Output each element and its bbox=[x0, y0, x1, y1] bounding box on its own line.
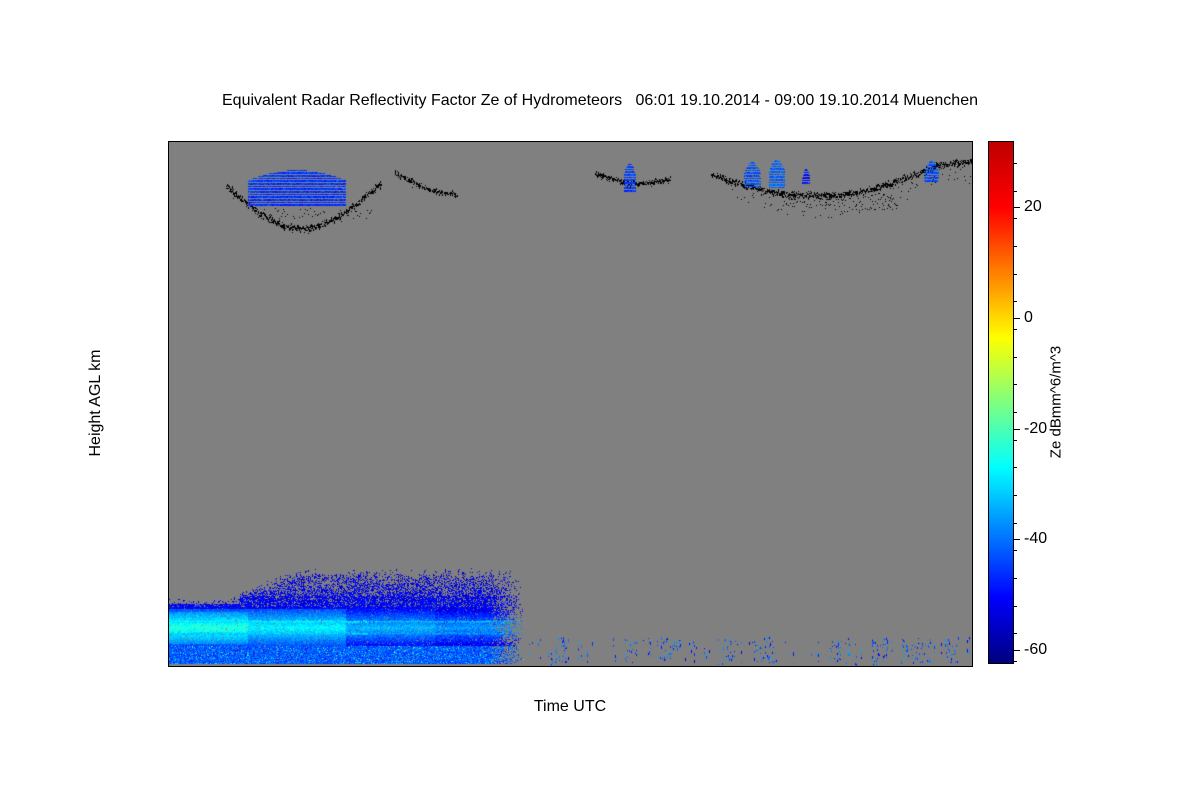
x-tick-minor bbox=[212, 666, 213, 667]
colorbar-tick-minor bbox=[1014, 578, 1017, 579]
colorbar-tick-minor bbox=[1014, 274, 1017, 275]
y-tick-minor-right bbox=[972, 425, 973, 426]
x-tick-major bbox=[835, 666, 836, 667]
colorbar[interactable]: 200-20-40-60 bbox=[988, 141, 1012, 662]
y-tick-minor bbox=[168, 288, 169, 289]
colorbar-tick-minor bbox=[1014, 606, 1017, 607]
y-tick-minor-right bbox=[972, 242, 973, 243]
colorbar-tick-minor bbox=[1014, 329, 1017, 330]
y-tick-major-right bbox=[972, 586, 973, 587]
x-tick-minor-top bbox=[924, 141, 925, 142]
colorbar-tick-minor bbox=[1014, 301, 1017, 302]
y-tick-minor-right bbox=[972, 609, 973, 610]
y-tick-major bbox=[168, 403, 169, 404]
y-tick-major-right bbox=[972, 311, 973, 312]
x-tick-major-top bbox=[969, 141, 970, 142]
y-tick-minor bbox=[168, 609, 169, 610]
y-tick-major bbox=[168, 219, 169, 220]
y-tick-minor bbox=[168, 380, 169, 381]
x-tick-minor-top bbox=[880, 141, 881, 142]
colorbar-tick-label: 20 bbox=[1024, 198, 1042, 216]
y-tick-minor-right bbox=[972, 288, 973, 289]
y-tick-minor bbox=[168, 563, 169, 564]
y-tick-minor-right bbox=[972, 563, 973, 564]
x-tick-minor-top bbox=[746, 141, 747, 142]
x-tick-minor bbox=[346, 666, 347, 667]
y-tick-minor bbox=[168, 150, 169, 151]
y-tick-minor-right bbox=[972, 380, 973, 381]
y-tick-minor-right bbox=[972, 540, 973, 541]
x-tick-minor-top bbox=[212, 141, 213, 142]
x-tick-major bbox=[435, 666, 436, 667]
colorbar-tick bbox=[1014, 207, 1020, 208]
x-tick-minor bbox=[613, 666, 614, 667]
y-tick-minor-right bbox=[972, 517, 973, 518]
y-tick-minor bbox=[168, 517, 169, 518]
colorbar-tick-minor bbox=[1014, 191, 1017, 192]
y-tick-minor bbox=[168, 357, 169, 358]
colorbar-tick bbox=[1014, 539, 1020, 540]
colorbar-tick bbox=[1014, 650, 1020, 651]
y-tick-major-right bbox=[972, 403, 973, 404]
y-tick-minor bbox=[168, 540, 169, 541]
y-tick-minor-right bbox=[972, 334, 973, 335]
reflectivity-heatmap-canvas bbox=[169, 142, 972, 666]
y-tick-minor bbox=[168, 242, 169, 243]
colorbar-tick-label: -20 bbox=[1024, 420, 1047, 438]
y-tick-minor-right bbox=[972, 448, 973, 449]
colorbar-tick-label: -60 bbox=[1024, 641, 1047, 659]
y-tick-minor-right bbox=[972, 471, 973, 472]
y-tick-minor bbox=[168, 334, 169, 335]
colorbar-tick-minor bbox=[1014, 246, 1017, 247]
y-tick-major bbox=[168, 586, 169, 587]
colorbar-tick-minor bbox=[1014, 163, 1017, 164]
x-tick-minor-top bbox=[256, 141, 257, 142]
x-tick-major-top bbox=[435, 141, 436, 142]
chart-title: Equivalent Radar Reflectivity Factor Ze … bbox=[0, 92, 1200, 110]
x-tick-minor bbox=[746, 666, 747, 667]
y-tick-minor bbox=[168, 471, 169, 472]
colorbar-tick bbox=[1014, 429, 1020, 430]
colorbar-tick-minor bbox=[1014, 440, 1017, 441]
y-tick-minor-right bbox=[972, 265, 973, 266]
x-tick-minor-top bbox=[479, 141, 480, 142]
y-tick-minor-right bbox=[972, 150, 973, 151]
y-tick-minor-right bbox=[972, 632, 973, 633]
x-tick-major bbox=[568, 666, 569, 667]
x-tick-minor-top bbox=[791, 141, 792, 142]
y-tick-minor bbox=[168, 425, 169, 426]
colorbar-tick-label: 0 bbox=[1024, 309, 1033, 327]
colorbar-tick-minor bbox=[1014, 633, 1017, 634]
y-tick-major bbox=[168, 494, 169, 495]
x-tick-major-top bbox=[568, 141, 569, 142]
y-tick-minor bbox=[168, 448, 169, 449]
colorbar-tick-minor bbox=[1014, 661, 1017, 662]
colorbar-tick-minor bbox=[1014, 384, 1017, 385]
colorbar-tick-minor bbox=[1014, 357, 1017, 358]
y-tick-minor-right bbox=[972, 196, 973, 197]
y-tick-minor-right bbox=[972, 357, 973, 358]
x-tick-major-top bbox=[835, 141, 836, 142]
colorbar-tick bbox=[1014, 318, 1020, 319]
colorbar-tick-minor bbox=[1014, 495, 1017, 496]
x-tick-minor bbox=[924, 666, 925, 667]
colorbar-tick-minor bbox=[1014, 218, 1017, 219]
plot-area[interactable]: 24681006:3007:0007:3008:0008:3009:00 bbox=[168, 141, 973, 667]
x-tick-minor bbox=[524, 666, 525, 667]
x-tick-major-top bbox=[301, 141, 302, 142]
colorbar-tick-minor bbox=[1014, 550, 1017, 551]
x-tick-major bbox=[969, 666, 970, 667]
y-tick-minor-right bbox=[972, 655, 973, 656]
x-tick-minor bbox=[657, 666, 658, 667]
y-tick-minor bbox=[168, 265, 169, 266]
colorbar-tick-label: -40 bbox=[1024, 530, 1047, 548]
x-tick-minor-top bbox=[346, 141, 347, 142]
x-tick-minor-top bbox=[657, 141, 658, 142]
colorbar-tick-minor bbox=[1014, 412, 1017, 413]
colorbar-axis-label: Ze dBmm^6/m^3 bbox=[1048, 346, 1065, 458]
x-tick-minor bbox=[256, 666, 257, 667]
x-tick-minor bbox=[479, 666, 480, 667]
x-tick-minor-top bbox=[390, 141, 391, 142]
x-tick-major-top bbox=[702, 141, 703, 142]
y-tick-minor-right bbox=[972, 173, 973, 174]
x-axis-label: Time UTC bbox=[534, 698, 606, 716]
x-tick-major bbox=[301, 666, 302, 667]
x-tick-minor-top bbox=[524, 141, 525, 142]
y-tick-major-right bbox=[972, 494, 973, 495]
y-axis-label: Height AGL km bbox=[87, 349, 105, 456]
y-tick-major-right bbox=[972, 219, 973, 220]
x-tick-minor bbox=[390, 666, 391, 667]
x-tick-minor bbox=[880, 666, 881, 667]
y-tick-minor bbox=[168, 173, 169, 174]
y-tick-minor bbox=[168, 632, 169, 633]
y-tick-minor bbox=[168, 196, 169, 197]
x-tick-minor-top bbox=[613, 141, 614, 142]
radar-reflectivity-figure: Equivalent Radar Reflectivity Factor Ze … bbox=[0, 0, 1200, 800]
colorbar-tick-minor bbox=[1014, 467, 1017, 468]
x-tick-minor bbox=[791, 666, 792, 667]
y-tick-major bbox=[168, 311, 169, 312]
x-tick-major bbox=[702, 666, 703, 667]
colorbar-tick-minor bbox=[1014, 523, 1017, 524]
y-tick-minor bbox=[168, 655, 169, 656]
colorbar-gradient bbox=[988, 141, 1014, 664]
